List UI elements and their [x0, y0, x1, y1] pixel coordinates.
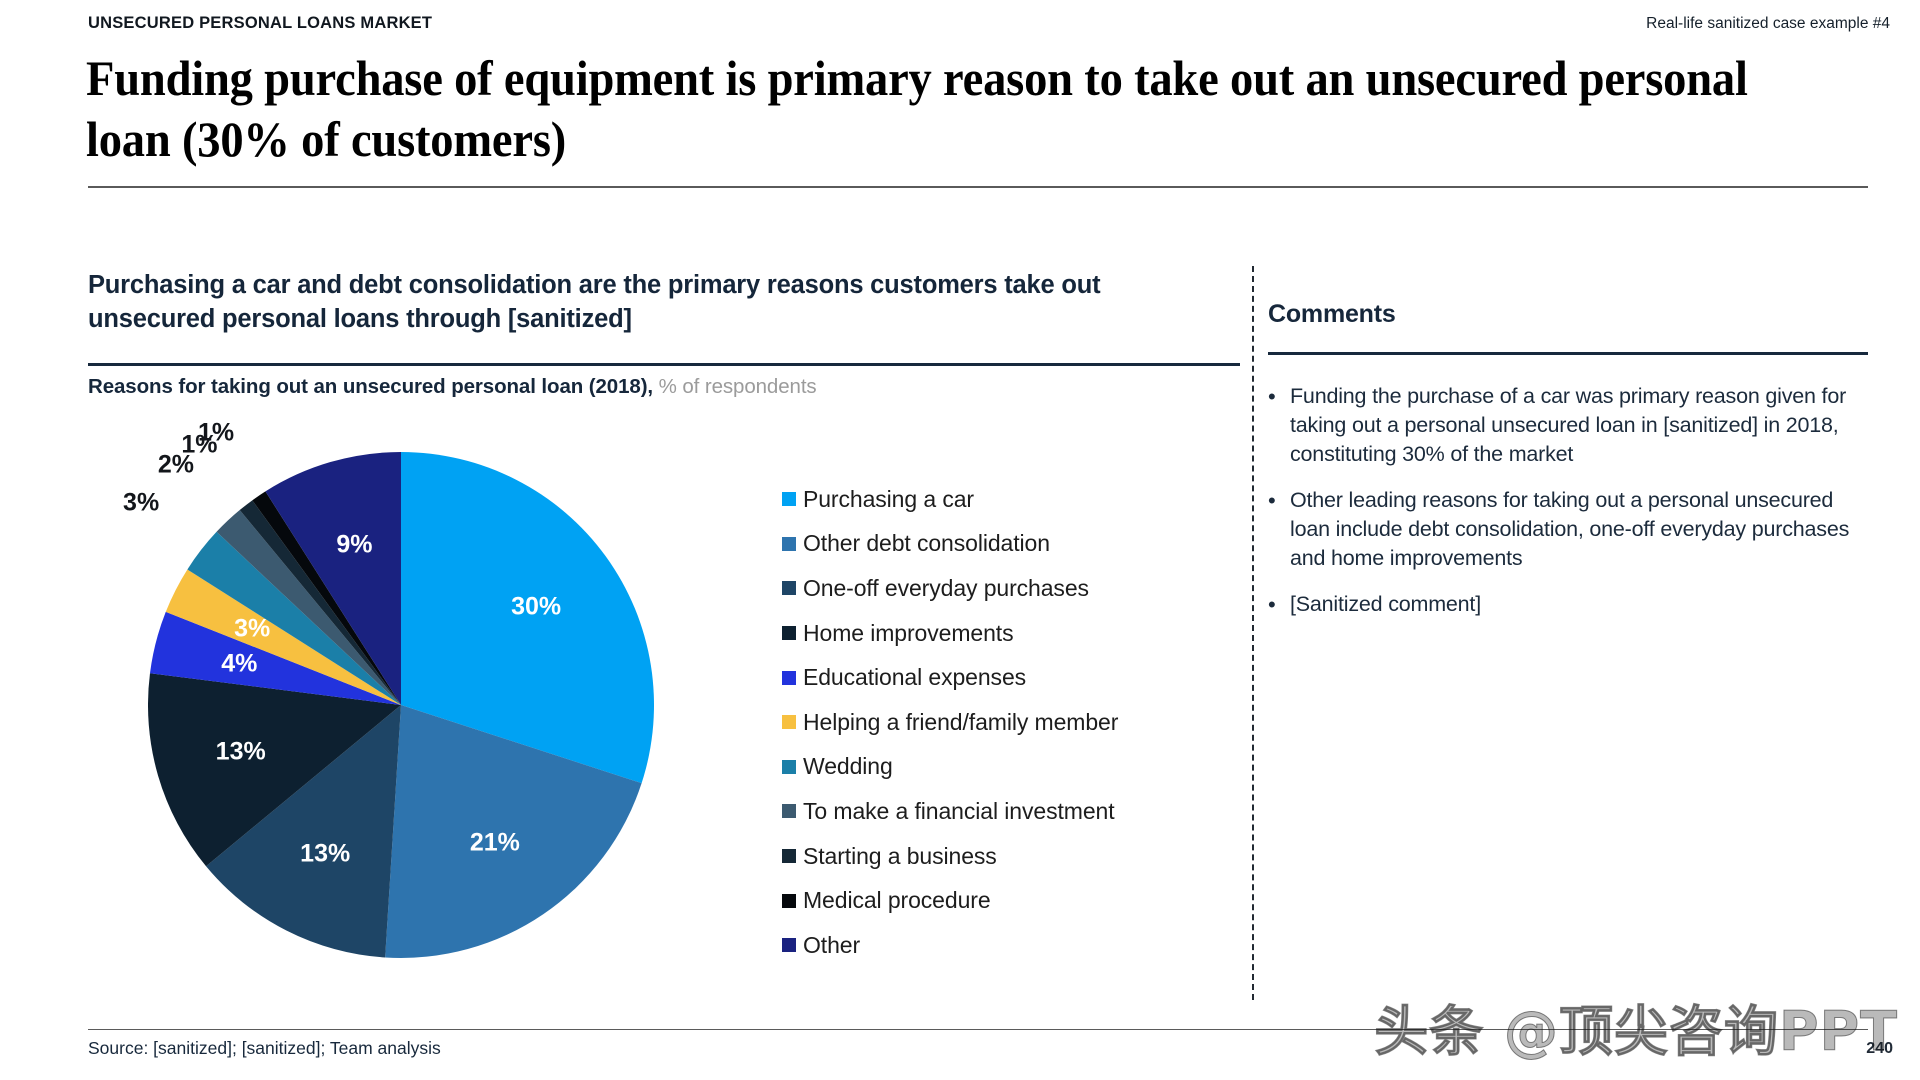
case-example-tag: Real-life sanitized case example #4 [1646, 15, 1890, 33]
legend-item[interactable]: To make a financial investment [782, 789, 1212, 834]
legend-item[interactable]: Home improvements [782, 611, 1212, 656]
bullet-marker-icon: • [1268, 486, 1290, 573]
legend-swatch-icon [782, 894, 796, 908]
column-divider [1252, 266, 1254, 1000]
comments-title: Comments [1268, 300, 1878, 329]
comment-bullet: •Other leading reasons for taking out a … [1268, 486, 1868, 573]
comments-list: •Funding the purchase of a car was prima… [1268, 382, 1868, 636]
legend-item-label: Educational expenses [803, 666, 1026, 689]
legend-swatch-icon [782, 938, 796, 952]
pie-slice-label: 1% [198, 419, 234, 448]
slide: UNSECURED PERSONAL LOANS MARKET Real-lif… [0, 0, 1920, 1080]
footer-divider [88, 1029, 1868, 1030]
legend-swatch-icon [782, 849, 796, 863]
legend-swatch-icon [782, 804, 796, 818]
lead-statement: Purchasing a car and debt consolidation … [88, 268, 1198, 336]
slide-kicker: UNSECURED PERSONAL LOANS MARKET [88, 14, 432, 33]
legend-swatch-icon [782, 671, 796, 685]
legend-swatch-icon [782, 581, 796, 595]
legend-swatch-icon [782, 715, 796, 729]
legend-item-label: Purchasing a car [803, 488, 974, 511]
legend-item-label: Helping a friend/family member [803, 711, 1118, 734]
legend-item[interactable]: Starting a business [782, 834, 1212, 879]
chart-subtitle: Reasons for taking out an unsecured pers… [88, 375, 817, 399]
comment-bullet: •[Sanitized comment] [1268, 590, 1868, 619]
legend-swatch-icon [782, 492, 796, 506]
comment-bullet: •Funding the purchase of a car was prima… [1268, 382, 1868, 469]
legend-item[interactable]: Helping a friend/family member [782, 700, 1212, 745]
title-divider [88, 186, 1868, 188]
legend-item[interactable]: Wedding [782, 745, 1212, 790]
legend-item-label: Other [803, 934, 860, 957]
legend-item-label: One-off everyday purchases [803, 577, 1089, 600]
page-title: Funding purchase of equipment is primary… [86, 48, 1751, 170]
chart-subtitle-bold: Reasons for taking out an unsecured pers… [88, 375, 653, 398]
comment-bullet-text: Other leading reasons for taking out a p… [1290, 486, 1868, 573]
page-number: 240 [1866, 1040, 1893, 1058]
source-note: Source: [sanitized]; [sanitized]; Team a… [88, 1038, 441, 1059]
legend-item[interactable]: Purchasing a car [782, 477, 1212, 522]
comments-divider [1268, 352, 1868, 355]
pie-chart: 30%21%13%13%4%3%3%2%1%1%9% [148, 452, 654, 958]
bullet-marker-icon: • [1268, 590, 1290, 619]
chart-legend: Purchasing a carOther debt consolidation… [782, 477, 1212, 968]
legend-item-label: To make a financial investment [803, 800, 1115, 823]
legend-item[interactable]: One-off everyday purchases [782, 566, 1212, 611]
legend-item-label: Medical procedure [803, 889, 991, 912]
legend-item-label: Home improvements [803, 622, 1013, 645]
bullet-marker-icon: • [1268, 382, 1290, 469]
comments-panel: Comments [1268, 300, 1878, 329]
chart-subtitle-unit: % of respondents [653, 375, 817, 398]
legend-item[interactable]: Other [782, 923, 1212, 968]
legend-item[interactable]: Other debt consolidation [782, 522, 1212, 567]
legend-item-label: Other debt consolidation [803, 532, 1050, 555]
pie-chart-svg [148, 452, 654, 958]
comment-bullet-text: [Sanitized comment] [1290, 590, 1481, 619]
legend-swatch-icon [782, 626, 796, 640]
legend-swatch-icon [782, 760, 796, 774]
lead-divider [88, 363, 1240, 366]
comment-bullet-text: Funding the purchase of a car was primar… [1290, 382, 1868, 469]
pie-slice-label: 3% [123, 489, 159, 518]
legend-item[interactable]: Medical procedure [782, 878, 1212, 923]
chart-panel: Purchasing a car and debt consolidation … [88, 268, 1240, 336]
legend-swatch-icon [782, 537, 796, 551]
watermark: 头条 @顶尖咨询PPT [1374, 987, 1898, 1066]
legend-item-label: Starting a business [803, 845, 997, 868]
legend-item[interactable]: Educational expenses [782, 655, 1212, 700]
legend-item-label: Wedding [803, 755, 893, 778]
